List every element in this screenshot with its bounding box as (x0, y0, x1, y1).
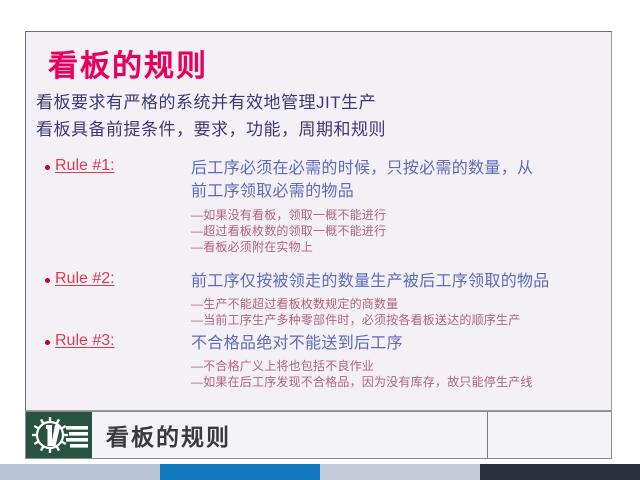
company-logo (26, 412, 92, 458)
footer-title-cell: 看板的规则 (92, 412, 488, 458)
rule-2-sub-line-2: —当前工序生产多种零部件时，必须按各看板送达的顺序生产 (191, 312, 611, 328)
rule-3-head: Rule #3: 不合格品绝对不能送到后工序 (26, 332, 613, 354)
page-title: 看板的规则 (48, 41, 208, 85)
rule-1-sub-list: —如果没有看板，领取一概不能进行 —超过看板枚数的领取一概不能进行 —看板必须附… (191, 207, 611, 255)
rule-2-text-line-1: 前工序仅按被领走的数量生产被后工序领取的物品 (191, 270, 603, 293)
rule-1-sub-line-1: —如果没有看板，领取一概不能进行 (191, 207, 611, 223)
rule-block-1: Rule #1: 后工序必须在必需的时候，只按必需的数量，从 前工序领取必需的物… (26, 157, 613, 179)
bottom-color-strip (0, 464, 640, 480)
rule-2-sub-list: —生产不能超过看板枚数规定的商数量 —当前工序生产多种零部件时，必须按各看板送达… (191, 296, 611, 328)
rule-3-sub-line-2: —如果在后工序发现不合格品，因为没有库存，故只能停生产线 (191, 374, 611, 390)
rule-1-sub-line-3: —看板必须附在实物上 (191, 239, 611, 255)
rule-3-text: 不合格品绝对不能送到后工序 (191, 332, 603, 355)
rule-3-text-line-1: 不合格品绝对不能送到后工序 (191, 332, 603, 355)
bullet-dot-icon (45, 165, 50, 170)
strip-segment-3 (320, 464, 480, 480)
footer-bar: 看板的规则 (25, 411, 612, 459)
rule-1-text-line-1: 后工序必须在必需的时候，只按必需的数量，从 (191, 157, 603, 180)
strip-segment-1 (0, 464, 160, 480)
rule-2-text: 前工序仅按被领走的数量生产被后工序领取的物品 (191, 270, 603, 293)
rule-1-sub-line-2: —超过看板枚数的领取一概不能进行 (191, 223, 611, 239)
rule-3-label: Rule #3: (55, 332, 115, 350)
rule-2-label: Rule #2: (55, 270, 115, 288)
footer-title: 看板的规则 (106, 418, 231, 452)
rule-2-sub-line-1: —生产不能超过看板枚数规定的商数量 (191, 296, 611, 312)
rule-1-text-line-2: 前工序领取必需的物品 (191, 180, 603, 203)
bullet-dot-icon (45, 278, 50, 283)
slide-content-panel: 看板的规则 看板要求有严格的系统并有效地管理JIT生产 看板具备前提条件，要求，… (25, 31, 612, 411)
footer-right-cell (488, 412, 611, 458)
gear-logo-icon (26, 412, 92, 458)
rule-1-text: 后工序必须在必需的时候，只按必需的数量，从 前工序领取必需的物品 (191, 157, 603, 203)
slide-root: 看板的规则 看板要求有严格的系统并有效地管理JIT生产 看板具备前提条件，要求，… (0, 0, 640, 480)
rule-3-sub-line-1: —不合格广义上将也包括不良作业 (191, 358, 611, 374)
rule-block-3: Rule #3: 不合格品绝对不能送到后工序 —不合格广义上将也包括不良作业 —… (26, 332, 613, 354)
rule-block-2: Rule #2: 前工序仅按被领走的数量生产被后工序领取的物品 —生产不能超过看… (26, 270, 613, 292)
subtitle-line-2: 看板具备前提条件，要求，功能，周期和规则 (36, 115, 386, 140)
rule-1-head: Rule #1: 后工序必须在必需的时候，只按必需的数量，从 前工序领取必需的物… (26, 157, 613, 179)
subtitle-line-1: 看板要求有严格的系统并有效地管理JIT生产 (36, 88, 376, 113)
rule-1-label: Rule #1: (55, 157, 115, 175)
rule-3-sub-list: —不合格广义上将也包括不良作业 —如果在后工序发现不合格品，因为没有库存，故只能… (191, 358, 611, 390)
strip-segment-4 (480, 464, 640, 480)
bullet-dot-icon (45, 340, 50, 345)
rule-2-head: Rule #2: 前工序仅按被领走的数量生产被后工序领取的物品 (26, 270, 613, 292)
strip-segment-2 (160, 464, 320, 480)
